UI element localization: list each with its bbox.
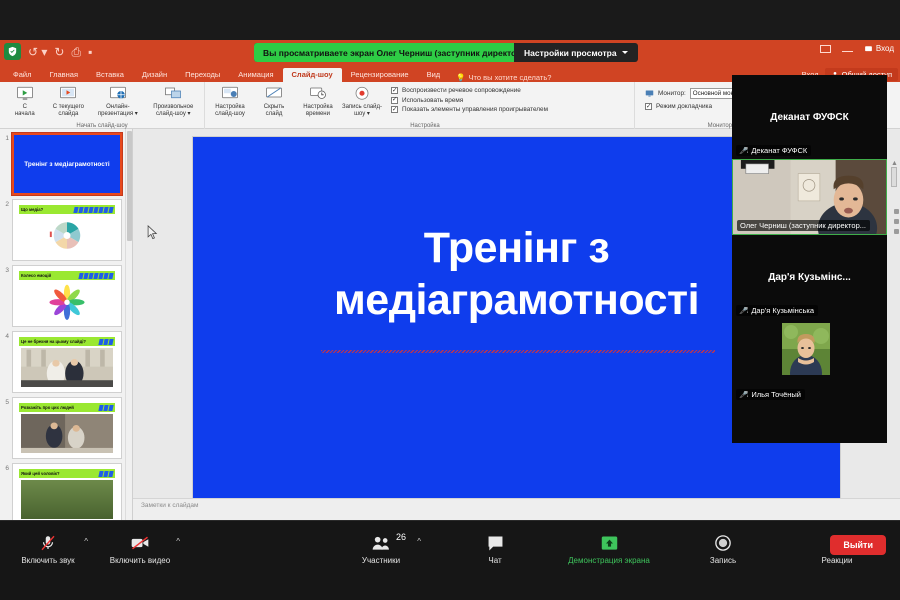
- zoom-toolbar-center: 26 Участники ^ Чат Демонстрация экрана: [345, 533, 873, 565]
- signin-top-label: Вход: [876, 44, 894, 53]
- participants-count: 26: [396, 532, 406, 542]
- thumbnail-item-2[interactable]: 2 Що медіа?: [0, 195, 132, 261]
- audio-options-chevron-icon[interactable]: ^: [84, 537, 88, 546]
- window-controls[interactable]: Вход: [820, 44, 894, 53]
- hide-slide-button[interactable]: Скрыть слайд: [253, 84, 295, 117]
- thumbnail-number: 2: [3, 199, 12, 208]
- thumbnail-number: 3: [3, 265, 12, 274]
- record-button[interactable]: Запись: [687, 533, 759, 565]
- from-current-slide-icon: [58, 85, 78, 103]
- slide-thumbnail-panel[interactable]: 1 Тренінг з медіаграмотності 2 Що медіа?: [0, 129, 133, 520]
- restore-icon[interactable]: [820, 45, 831, 53]
- thumbnail-header-text: Який цей чоловік?: [21, 471, 60, 476]
- monitor-icon: [645, 89, 654, 98]
- from-beginning-icon: [15, 85, 35, 103]
- zoom-panel-scrollbar[interactable]: ▲: [891, 160, 897, 187]
- thumbnail-item-1[interactable]: 1 Тренінг з медіаграмотності: [0, 129, 132, 195]
- thumbnail-header-text: Це не брехня на цьому слайді?: [21, 339, 86, 344]
- thumbnail-header-text: Що медіа?: [21, 207, 43, 212]
- slide-photo: [21, 480, 113, 519]
- tab-animations[interactable]: Анимация: [229, 68, 282, 82]
- participant-name: Дар'я Кузьмінська: [751, 306, 814, 315]
- checkbox-icon[interactable]: [391, 106, 398, 113]
- share-screen-icon: [600, 533, 619, 553]
- view-options-label: Настройки просмотра: [524, 48, 617, 58]
- mouse-cursor-icon: [147, 225, 158, 240]
- participant-tile-1[interactable]: Деканат ФУФСК 🎤̸ Деканат ФУФСК: [732, 75, 887, 159]
- start-video-button[interactable]: Включить видео ^: [104, 533, 176, 565]
- rehearse-timings-button[interactable]: Настройка времени: [297, 84, 339, 117]
- video-options-chevron-icon[interactable]: ^: [176, 537, 180, 546]
- hide-slide-icon: [264, 85, 284, 103]
- participant-name: Деканат ФУФСК: [751, 146, 807, 155]
- from-current-slide-label: С текущего слайда: [53, 104, 84, 117]
- tab-design[interactable]: Дизайн: [133, 68, 176, 82]
- checkbox-icon[interactable]: [391, 87, 398, 94]
- microphone-muted-icon: [39, 533, 57, 553]
- thumbnail-number: 6: [3, 463, 12, 472]
- thumbnail-number: 5: [3, 397, 12, 406]
- thumbnail-scrollbar-thumb[interactable]: [127, 131, 132, 241]
- setup-slideshow-button[interactable]: Настройка слайд-шоу: [209, 84, 251, 117]
- slide-title-line1: Тренінг з: [233, 222, 800, 274]
- tell-me-label: Что вы хотите сделать?: [469, 73, 552, 82]
- notes-placeholder: Заметки к слайдам: [141, 502, 198, 509]
- mute-label: Включить звук: [21, 556, 74, 565]
- slide-title-text[interactable]: Тренінг з медіаграмотності: [233, 222, 800, 326]
- slide-photo: [21, 414, 113, 453]
- tell-me-box[interactable]: 💡 Что вы хотите сделать?: [456, 73, 551, 82]
- screen-root: ↺ ▾ ↻ ⎙ ▪ Медиаграмотнiсть - PowerPoint …: [0, 0, 900, 600]
- thumbnail-header-bar: Який цей чоловік?: [19, 469, 115, 478]
- thumbnail-preview[interactable]: Який цей чоловік?: [12, 463, 122, 520]
- minimize-icon[interactable]: [842, 51, 853, 52]
- checkbox-use-timings-label: Использовать время: [402, 97, 463, 104]
- mute-button[interactable]: Включить звук ^: [12, 533, 84, 565]
- zoom-meeting-toolbar: Включить звук ^ Включить видео ^: [0, 520, 900, 600]
- screen-share-banner[interactable]: Вы просматриваете экран Олег Черниш (зас…: [254, 43, 638, 62]
- decorative-glyphs: [79, 273, 113, 279]
- wheel-diagram: [21, 216, 113, 255]
- zoom-participants-panel[interactable]: Деканат ФУФСК 🎤̸ Деканат ФУФСК: [732, 75, 887, 443]
- zoom-toolbar-left: Включить звук ^ Включить видео ^: [12, 533, 176, 565]
- chat-label: Чат: [488, 556, 501, 565]
- mic-off-icon: 🎤̸: [739, 391, 748, 399]
- thumbnail-header-bar: Розкажіть про цих людей: [19, 403, 115, 412]
- participants-button[interactable]: 26 Участники ^: [345, 533, 417, 565]
- decorative-glyphs: [99, 471, 113, 477]
- thumbnail-preview[interactable]: Тренінг з медіаграмотності: [12, 133, 122, 195]
- avatar-photo: [782, 323, 830, 375]
- tab-insert[interactable]: Вставка: [87, 68, 133, 82]
- from-beginning-button[interactable]: С начала: [4, 84, 46, 117]
- participants-label: Участники: [362, 556, 400, 565]
- custom-slideshow-button[interactable]: Произвольное слайд-шоу ▾: [147, 84, 200, 117]
- tab-review[interactable]: Рецензирование: [342, 68, 418, 82]
- slide-photo: [21, 348, 113, 387]
- lightbulb-icon: 💡: [456, 73, 465, 82]
- mic-off-icon: 🎤̸: [739, 307, 748, 315]
- thumbnail-preview[interactable]: Це не брехня на цьому слайді?: [12, 331, 122, 393]
- present-online-icon: [108, 85, 128, 103]
- thumbnail-header-bar: Це не брехня на цьому слайді?: [19, 337, 115, 346]
- present-online-label: Онлайн- презентация ▾: [98, 104, 138, 117]
- share-screen-label: Демонстрация экрана: [568, 556, 650, 565]
- thumbnail-item-4[interactable]: 4 Це не брехня на цьому слайді?: [0, 327, 132, 393]
- participant-name: Илья Точёный: [751, 390, 801, 399]
- slide-title-line2: медіаграмотності: [233, 274, 800, 326]
- participant-name: Олег Черниш (заступник директор...: [740, 221, 866, 230]
- spellcheck-underline: [321, 350, 715, 353]
- tab-view[interactable]: Вид: [418, 68, 450, 82]
- mic-off-icon: 🎤̸: [739, 147, 748, 155]
- from-current-slide-button[interactable]: С текущего слайда: [48, 84, 90, 117]
- tab-home[interactable]: Главная: [40, 68, 87, 82]
- thumbnail-preview[interactable]: Розкажіть про цих людей: [12, 397, 122, 459]
- scroll-up-icon[interactable]: [894, 209, 899, 214]
- participant-name-badge: Олег Черниш (заступник директор...: [737, 220, 870, 231]
- account-icon: [864, 44, 873, 53]
- thumbnail-header-bar: Колесо емоцій: [19, 271, 115, 280]
- viewing-screen-label: Вы просматриваете экран Олег Черниш (зас…: [254, 43, 514, 62]
- scroll-next-slide-icon[interactable]: [894, 229, 899, 234]
- checkbox-show-media-controls-label: Показать элементы управления проигрывате…: [402, 106, 548, 113]
- decorative-glyphs: [74, 207, 113, 213]
- rehearse-timings-icon: [308, 85, 328, 103]
- signin-top[interactable]: Вход: [864, 44, 894, 53]
- checkbox-presenter-view-label: Режим докладчика: [656, 103, 712, 110]
- participant-avatar: [782, 323, 830, 375]
- chat-icon: [486, 533, 505, 553]
- decorative-glyphs: [99, 339, 113, 345]
- thumbnail-header-text: Розкажіть про цих людей: [21, 405, 74, 410]
- camera-stopped-icon: [129, 533, 151, 553]
- checkbox-play-narration-label: Воспроизвести речевое сопровождение: [402, 87, 521, 94]
- checkbox-use-timings[interactable]: Использовать время: [391, 97, 548, 104]
- tab-transitions[interactable]: Переходы: [176, 68, 229, 82]
- share-screen-button[interactable]: Демонстрация экрана: [573, 533, 645, 565]
- setup-slideshow-label: Настройка слайд-шоу: [215, 104, 245, 117]
- stage-scroll-controls[interactable]: [893, 209, 899, 234]
- from-beginning-label: С начала: [15, 104, 35, 117]
- custom-slideshow-icon: [163, 85, 183, 103]
- thumbnail-number: 1: [3, 133, 12, 142]
- thumbnail-preview[interactable]: Колесо емоцій: [12, 265, 122, 327]
- decorative-glyphs: [99, 405, 113, 411]
- record-slideshow-button[interactable]: Запись слайд- шоу ▾: [341, 84, 383, 117]
- checkbox-play-narration[interactable]: Воспроизвести речевое сопровождение: [391, 87, 548, 94]
- chevron-down-icon: [622, 51, 628, 54]
- start-video-label: Включить видео: [110, 556, 170, 565]
- participant-name-badge: 🎤̸ Илья Точёный: [736, 389, 805, 400]
- participants-chevron-icon[interactable]: ^: [417, 537, 421, 546]
- custom-slideshow-label: Произвольное слайд-шоу ▾: [153, 104, 193, 117]
- ribbon-group-setup: Настройка слайд-шоу Скрыть слайд Настрой…: [205, 82, 635, 129]
- thumbnail-scrollbar[interactable]: [125, 129, 132, 520]
- ribbon-group-start-slideshow: С начала С текущего слайда Онлайн- презе…: [0, 82, 205, 129]
- checkbox-icon[interactable]: [391, 97, 398, 104]
- record-slideshow-label: Запись слайд- шоу ▾: [342, 104, 382, 117]
- thumbnail-title: Тренінг з медіаграмотності: [24, 160, 109, 169]
- zoom-panel-scrollbar-thumb[interactable]: [891, 167, 897, 187]
- participant-tile-3[interactable]: Дар'я Кузьмінс... 🎤̸ Дар'я Кузьмінська: [732, 235, 887, 319]
- slideshow-checkboxes[interactable]: Воспроизвести речевое сопровождение Испо…: [385, 84, 554, 117]
- participant-name-badge: 🎤̸ Дар'я Кузьмінська: [736, 305, 818, 316]
- view-options-button[interactable]: Настройки просмотра: [514, 43, 638, 62]
- chat-button[interactable]: Чат: [459, 533, 531, 565]
- checkbox-show-media-controls[interactable]: Показать элементы управления проигрывате…: [391, 106, 548, 113]
- tab-slideshow[interactable]: Слайд-шоу: [283, 68, 342, 82]
- thumbnail-item-5[interactable]: 5 Розкажіть про цих людей: [0, 393, 132, 459]
- thumbnail-number: 4: [3, 331, 12, 340]
- scroll-up-icon[interactable]: ▲: [891, 160, 897, 167]
- reactions-label: Реакции: [822, 556, 853, 565]
- thumbnail-item-3[interactable]: 3 Колесо емоцій: [0, 261, 132, 327]
- participants-icon: [371, 533, 391, 553]
- rehearse-timings-label: Настройка времени: [303, 104, 333, 117]
- tab-file[interactable]: Файл: [4, 68, 40, 82]
- monitor-label: Монитор:: [658, 90, 686, 97]
- participant-name-badge: 🎤̸ Деканат ФУФСК: [736, 145, 811, 156]
- hide-slide-label: Скрыть слайд: [264, 104, 284, 117]
- leave-meeting-button[interactable]: Выйти: [830, 535, 886, 555]
- record-icon: [714, 533, 732, 553]
- record-label: Запись: [710, 556, 736, 565]
- flower-diagram: [21, 282, 113, 321]
- thumbnail-header-bar: Що медіа?: [19, 205, 115, 214]
- participant-tile-2[interactable]: Олег Черниш (заступник директор...: [732, 159, 887, 235]
- record-slideshow-icon: [352, 85, 372, 103]
- thumbnail-item-6[interactable]: 6 Який цей чоловік?: [0, 459, 132, 520]
- setup-slideshow-icon: [220, 85, 240, 103]
- checkbox-icon[interactable]: [645, 103, 652, 110]
- present-online-button[interactable]: Онлайн- презентация ▾: [91, 84, 144, 117]
- participant-tile-4[interactable]: 🎤̸ Илья Точёный: [732, 319, 887, 403]
- thumbnail-preview[interactable]: Що медіа?: [12, 199, 122, 261]
- thumbnail-header-text: Колесо емоцій: [21, 273, 51, 278]
- scroll-prev-slide-icon[interactable]: [894, 219, 899, 224]
- notes-pane[interactable]: Заметки к слайдам: [133, 498, 900, 520]
